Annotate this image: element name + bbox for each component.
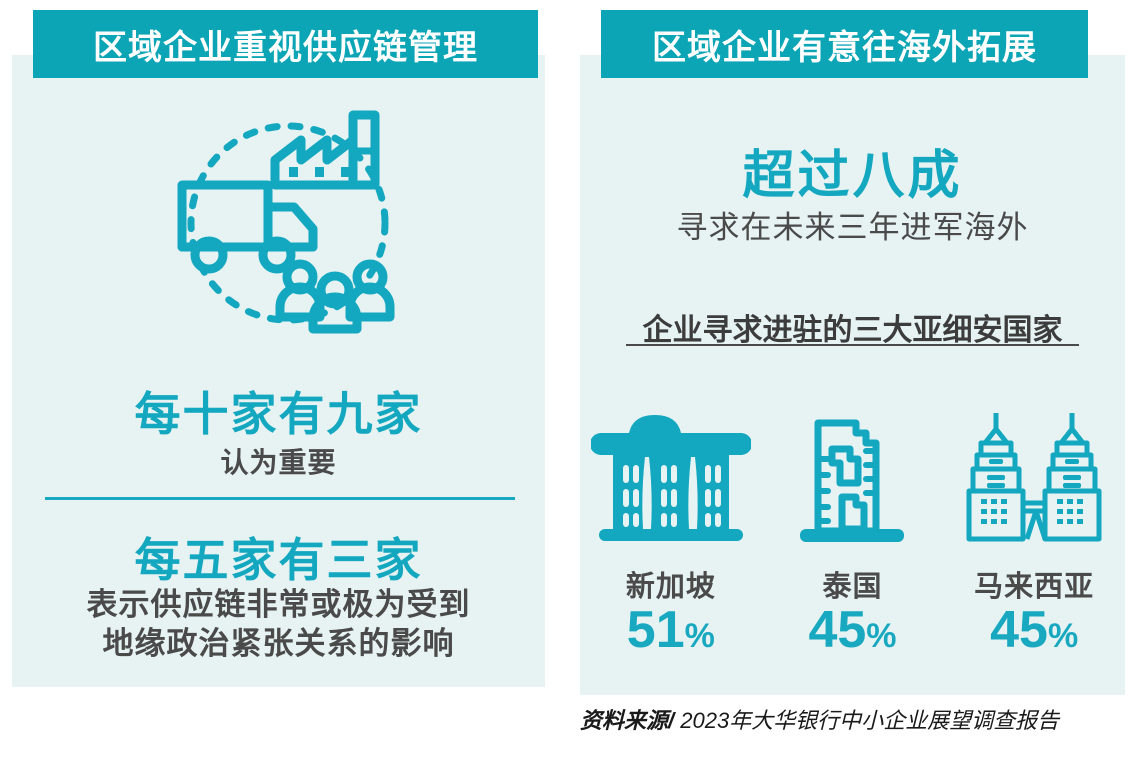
asean-heading-underline xyxy=(626,344,1079,346)
source-text: 2023年大华银行中小企业展望调查报告 xyxy=(674,708,1059,733)
source-label: 资料来源/ xyxy=(580,708,674,733)
stat-two-subtitle: 表示供应链非常或极为受到 地缘政治紧张关系的影响 xyxy=(12,585,545,663)
asean-countries-heading: 企业寻求进驻的三大亚细安国家 xyxy=(580,305,1125,349)
overseas-headline: 超过八成 xyxy=(580,133,1125,208)
country-value-number-thailand: 45 xyxy=(808,601,866,659)
petronas-towers-icon xyxy=(959,403,1109,553)
country-item-thailand: 泰国 45% xyxy=(767,403,937,658)
stat-two-headline: 每五家有三家 xyxy=(12,524,545,590)
source-note: 资料来源/ 2023年大华银行中小企业展望调查报告 xyxy=(580,705,1120,736)
country-name-thailand: 泰国 xyxy=(822,563,882,605)
stat-two-subtitle-line2: 地缘政治紧张关系的影响 xyxy=(12,624,545,663)
country-value-thailand: 45% xyxy=(808,603,896,658)
country-value-number-singapore: 51 xyxy=(627,601,685,659)
country-item-malaysia: 马来西亚 45% xyxy=(949,403,1119,658)
left-panel-divider xyxy=(45,497,515,500)
country-value-unit-singapore: % xyxy=(685,617,715,655)
stat-one-headline: 每十家有九家 xyxy=(12,378,545,444)
stat-two-subtitle-line1: 表示供应链非常或极为受到 xyxy=(12,585,545,624)
marina-bay-sands-icon xyxy=(591,403,751,553)
infographic-root: 区域企业重视供应链管理 xyxy=(0,0,1138,781)
stat-one-subtitle: 认为重要 xyxy=(12,441,545,481)
right-panel-header: 区域企业有意往海外拓展 xyxy=(601,10,1088,78)
left-panel-header: 区域企业重视供应链管理 xyxy=(33,10,538,78)
country-item-singapore: 新加坡 51% xyxy=(586,403,756,658)
country-value-malaysia: 45% xyxy=(990,603,1078,658)
overseas-subtitle: 寻求在未来三年进军海外 xyxy=(580,202,1125,247)
country-value-singapore: 51% xyxy=(627,603,715,658)
country-value-unit-malaysia: % xyxy=(1048,617,1078,655)
bangkok-tower-icon xyxy=(792,403,912,553)
country-value-unit-thailand: % xyxy=(866,617,896,655)
country-stats-row: 新加坡 51% xyxy=(580,378,1125,658)
country-name-malaysia: 马来西亚 xyxy=(974,563,1094,605)
country-name-singapore: 新加坡 xyxy=(626,563,716,605)
supply-chain-icon xyxy=(160,105,410,335)
country-value-number-malaysia: 45 xyxy=(990,601,1048,659)
